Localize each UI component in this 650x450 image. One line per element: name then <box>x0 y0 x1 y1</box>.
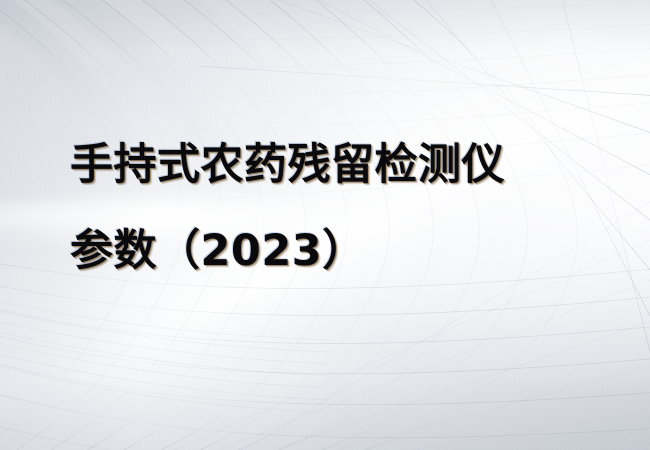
ripple-lines-lower-left <box>0 300 330 413</box>
title-line-2: 参数（2023） <box>70 208 630 294</box>
slide-title: 手持式农药残留检测仪 参数（2023） <box>70 122 630 294</box>
title-slide: 手持式农药残留检测仪 参数（2023） <box>0 0 650 450</box>
title-line-1: 手持式农药残留检测仪 <box>70 122 630 208</box>
